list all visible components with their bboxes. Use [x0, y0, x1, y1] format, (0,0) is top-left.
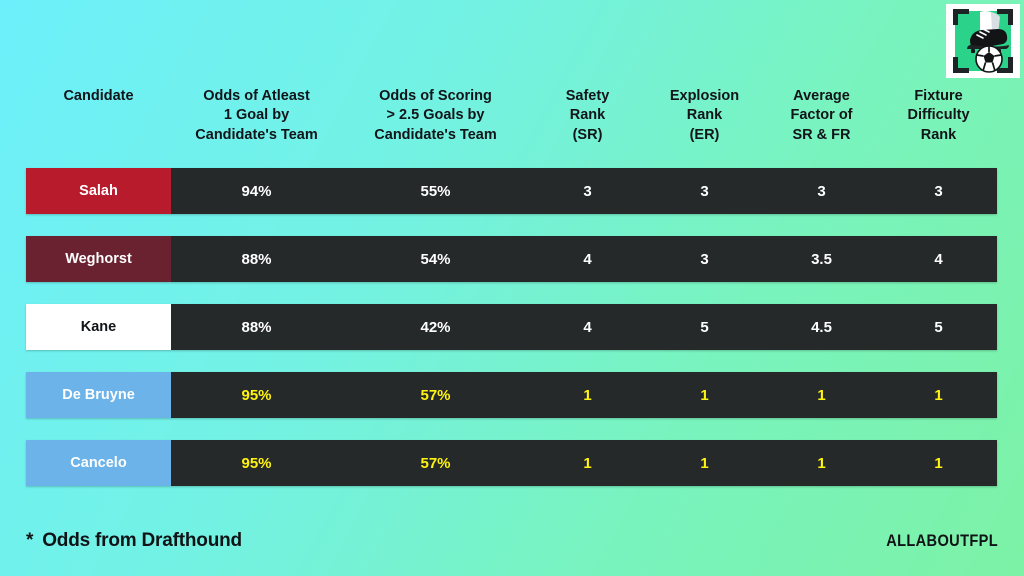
footnote: *Odds from Drafthound — [26, 530, 242, 552]
cell-safety-rank: 1 — [529, 440, 646, 486]
cell-safety-rank: 4 — [529, 304, 646, 350]
cell-average-factor: 3.5 — [763, 236, 880, 282]
cell-explosion-rank: 3 — [646, 168, 763, 214]
cell-odds-atleast-1-goal: 88% — [171, 236, 342, 282]
cell-odds-atleast-1-goal: 94% — [171, 168, 342, 214]
cell-odds-over-2-5-goals: 42% — [342, 304, 529, 350]
cell-explosion-rank: 1 — [646, 372, 763, 418]
column-header-explosion-rank: Explosion Rank (ER) — [646, 0, 763, 145]
cell-safety-rank: 3 — [529, 168, 646, 214]
cell-odds-over-2-5-goals: 57% — [342, 372, 529, 418]
cell-odds-over-2-5-goals: 54% — [342, 236, 529, 282]
table-body: Salah94%55%3333Weghorst88%54%433.54Kane8… — [26, 168, 997, 486]
cell-odds-over-2-5-goals: 57% — [342, 440, 529, 486]
cell-odds-atleast-1-goal: 95% — [171, 440, 342, 486]
cell-explosion-rank: 3 — [646, 236, 763, 282]
candidate-name-cell: Kane — [26, 304, 171, 350]
footnote-text: Odds from Drafthound — [42, 530, 242, 551]
cell-fixture-difficulty-rank: 3 — [880, 168, 997, 214]
candidate-name-cell: Weghorst — [26, 236, 171, 282]
table-row: Cancelo95%57%1111 — [26, 440, 997, 486]
table-header-row: Candidate Odds of Atleast 1 Goal by Cand… — [26, 0, 997, 168]
table-row: Salah94%55%3333 — [26, 168, 997, 214]
cell-explosion-rank: 5 — [646, 304, 763, 350]
candidate-name-cell: De Bruyne — [26, 372, 171, 418]
column-header-average-factor: Average Factor of SR & FR — [763, 0, 880, 145]
cell-average-factor: 1 — [763, 372, 880, 418]
cell-fixture-difficulty-rank: 4 — [880, 236, 997, 282]
candidate-name-cell: Salah — [26, 168, 171, 214]
candidate-name-cell: Cancelo — [26, 440, 171, 486]
column-header-fixture-difficulty-rank: Fixture Difficulty Rank — [880, 0, 997, 145]
column-header-odds-atleast-1-goal: Odds of Atleast 1 Goal by Candidate's Te… — [171, 0, 342, 145]
table-row: De Bruyne95%57%1111 — [26, 372, 997, 418]
cell-average-factor: 4.5 — [763, 304, 880, 350]
asterisk-marker: * — [26, 530, 33, 551]
footer: *Odds from Drafthound ALLABOUTFPL — [0, 524, 1024, 558]
cell-fixture-difficulty-rank: 1 — [880, 440, 997, 486]
cell-explosion-rank: 1 — [646, 440, 763, 486]
cell-odds-over-2-5-goals: 55% — [342, 168, 529, 214]
table-row: Kane88%42%454.55 — [26, 304, 997, 350]
column-header-odds-over-2-5-goals: Odds of Scoring > 2.5 Goals by Candidate… — [342, 0, 529, 145]
brand-wordmark: ALLABOUTFPL — [886, 531, 998, 551]
cell-average-factor: 3 — [763, 168, 880, 214]
table-row: Weghorst88%54%433.54 — [26, 236, 997, 282]
column-header-candidate: Candidate — [26, 0, 171, 106]
cell-fixture-difficulty-rank: 1 — [880, 372, 997, 418]
cell-fixture-difficulty-rank: 5 — [880, 304, 997, 350]
cell-odds-atleast-1-goal: 88% — [171, 304, 342, 350]
cell-odds-atleast-1-goal: 95% — [171, 372, 342, 418]
cell-average-factor: 1 — [763, 440, 880, 486]
cell-safety-rank: 4 — [529, 236, 646, 282]
candidates-table: Candidate Odds of Atleast 1 Goal by Cand… — [26, 0, 997, 508]
column-header-safety-rank: Safety Rank (SR) — [529, 0, 646, 145]
cell-safety-rank: 1 — [529, 372, 646, 418]
